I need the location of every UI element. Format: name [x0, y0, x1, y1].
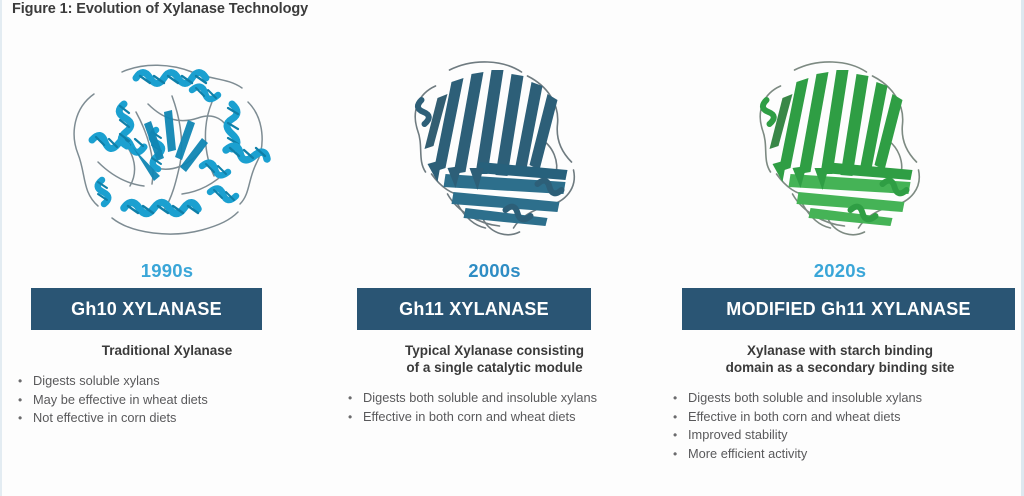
banner-gh10-xylanase: Gh10 XYLANASE: [31, 288, 262, 330]
decade-label-2000s: 2000s: [332, 259, 657, 283]
modified-gh11-beta-jelly-roll-structure: [733, 42, 948, 250]
figure-container: Figure 1: Evolution of Xylanase Technolo…: [0, 0, 1024, 496]
list-item-label: Digests soluble xylans: [33, 373, 160, 388]
list-item: •Digests both soluble and insoluble xyla…: [332, 389, 657, 408]
bullet-icon: •: [673, 445, 677, 464]
list-item: •May be effective in wheat diets: [2, 391, 332, 410]
list-item: •Improved stability: [657, 426, 1023, 445]
structure-image-gh10: [2, 42, 332, 250]
list-item: •Digests both soluble and insoluble xyla…: [657, 389, 1023, 408]
gh10-tim-barrel-structure: [52, 42, 282, 250]
list-item-label: May be effective in wheat diets: [33, 392, 208, 407]
subtitle-modified-gh11: Xylanase with starch binding domain as a…: [657, 342, 1023, 376]
list-item: •Effective in both corn and wheat diets: [332, 408, 657, 427]
list-item: •Effective in both corn and wheat diets: [657, 408, 1023, 427]
list-item-label: Digests both soluble and insoluble xylan…: [688, 390, 922, 405]
gh11-beta-jelly-roll-structure: [387, 42, 602, 250]
banner-modified-gh11-xylanase: MODIFIED Gh11 XYLANASE: [682, 288, 1015, 330]
subtitle-line-1: Xylanase with starch binding: [677, 342, 1003, 359]
bullet-icon: •: [348, 389, 352, 408]
structure-image-gh11: [332, 42, 657, 250]
subtitle-line-2: of a single catalytic module: [346, 359, 643, 376]
structure-image-modified-gh11: [657, 42, 1023, 250]
list-item: •More efficient activity: [657, 445, 1023, 464]
decade-label-1990s: 1990s: [2, 259, 332, 283]
list-item: •Digests soluble xylans: [2, 372, 332, 391]
decade-label-2020s: 2020s: [657, 259, 1023, 283]
subtitle-gh10: Traditional Xylanase: [2, 342, 332, 359]
subtitle-line-1: Typical Xylanase consisting: [346, 342, 643, 359]
bullet-icon: •: [673, 389, 677, 408]
bullet-icon: •: [18, 409, 22, 428]
bullet-icon: •: [673, 426, 677, 445]
column-modified-gh11: 2020s MODIFIED Gh11 XYLANASE Xylanase wi…: [657, 42, 1023, 494]
list-item-label: More efficient activity: [688, 446, 807, 461]
column-gh10: 1990s Gh10 XYLANASE Traditional Xylanase…: [2, 42, 332, 494]
list-item-label: Improved stability: [688, 427, 788, 442]
page-title: Figure 1: Evolution of Xylanase Technolo…: [12, 1, 308, 17]
list-item-label: Effective in both corn and wheat diets: [688, 409, 900, 424]
list-item: •Not effective in corn diets: [2, 409, 332, 428]
list-item-label: Effective in both corn and wheat diets: [363, 409, 575, 424]
bullet-icon: •: [673, 408, 677, 427]
banner-gh11-xylanase: Gh11 XYLANASE: [357, 288, 591, 330]
list-item-label: Not effective in corn diets: [33, 410, 176, 425]
bullet-list-gh10: •Digests soluble xylans •May be effectiv…: [2, 372, 332, 428]
subtitle-line-2: domain as a secondary binding site: [677, 359, 1003, 376]
bullet-list-gh11: •Digests both soluble and insoluble xyla…: [332, 389, 657, 426]
subtitle-gh11: Typical Xylanase consisting of a single …: [332, 342, 657, 376]
column-gh11: 2000s Gh11 XYLANASE Typical Xylanase con…: [332, 42, 657, 494]
bullet-list-modified-gh11: •Digests both soluble and insoluble xyla…: [657, 389, 1023, 463]
bullet-icon: •: [18, 372, 22, 391]
bullet-icon: •: [18, 391, 22, 410]
bullet-icon: •: [348, 408, 352, 427]
list-item-label: Digests both soluble and insoluble xylan…: [363, 390, 597, 405]
